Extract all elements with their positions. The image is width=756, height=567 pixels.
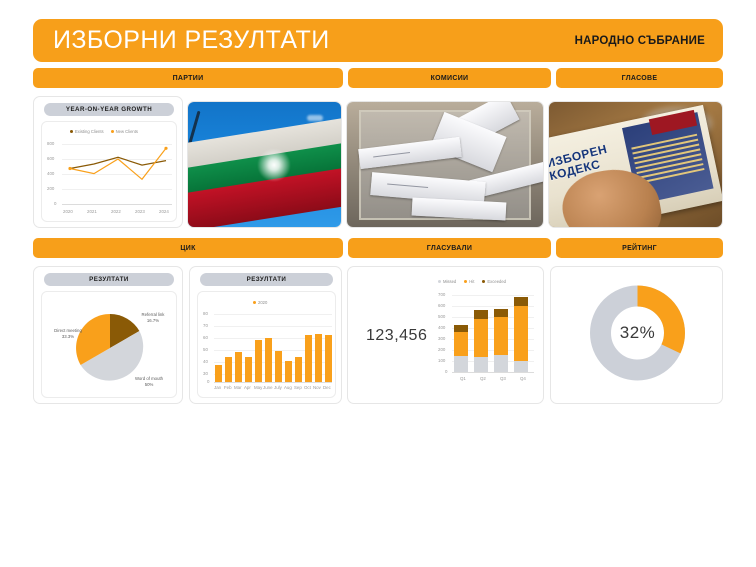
bar-june — [265, 338, 272, 382]
x-tick-label: May — [254, 385, 262, 390]
panel-title-growth: YEAR-ON-YEAR GROWTH — [44, 103, 174, 116]
card-results-bar: РЕЗУЛТАТИ 2020 80 70 60 50 40 30 0 — [189, 266, 342, 404]
y-tick-label: 70 — [203, 323, 208, 328]
stack-q4 — [514, 297, 528, 372]
panel-title-results-bar: РЕЗУЛТАТИ — [200, 273, 333, 286]
card-results-pie: РЕЗУЛТАТИ Referral link 16.7% Word of mo… — [33, 266, 183, 404]
nav-button-cik[interactable]: ЦИК — [33, 238, 343, 258]
x-tick-label: Q3 — [500, 376, 506, 381]
book-scene: ИЗБОРЕН КОДЕКС — [549, 102, 722, 227]
card-rating-donut: 32% — [550, 266, 723, 404]
x-tick-label: June — [263, 385, 273, 390]
x-tick-label: 2023 — [135, 209, 145, 214]
stack-q1 — [454, 325, 468, 372]
y-tick-label: 50 — [203, 347, 208, 352]
page-header: ИЗБОРНИ РЕЗУЛТАТИ НАРОДНО СЪБРАНИЕ — [33, 19, 723, 62]
legend-swatch-exceeded — [482, 280, 485, 283]
y-tick-label: 600 — [438, 303, 445, 308]
stack-q2 — [474, 310, 488, 372]
stack-q3 — [494, 309, 508, 372]
chart-year-on-year-growth: Existing Clients New Clients 800 600 400… — [41, 121, 177, 222]
x-tick-label: Dec — [323, 385, 331, 390]
chart-results-pie: Referral link 16.7% Word of mouth 50% Di… — [41, 291, 177, 398]
nav-button-partii[interactable]: ПАРТИИ — [33, 68, 343, 88]
x-tick-label: Mar — [234, 385, 242, 390]
legend-label-missed: Missed — [443, 279, 456, 284]
x-tick-label: Apr — [244, 385, 251, 390]
legend-label-exceeded: Exceeded — [487, 279, 506, 284]
page-title: ИЗБОРНИ РЕЗУЛТАТИ — [53, 26, 330, 55]
x-tick-label: July — [274, 385, 282, 390]
nav-row-secondary: ЦИК ГЛАСУВАЛИ РЕЙТИНГ — [33, 238, 723, 258]
pie-label-value: 50% — [124, 382, 174, 388]
bar-jan — [215, 365, 222, 382]
segment-missed — [454, 356, 468, 373]
page-subtitle: НАРОДНО СЪБРАНИЕ — [575, 35, 705, 47]
axis-line-x — [452, 372, 534, 373]
bar-dec — [325, 335, 332, 382]
bar-feb — [225, 357, 232, 383]
nav-button-glasuvali[interactable]: ГЛАСУВАЛИ — [348, 238, 551, 258]
image-ballot-box — [346, 101, 544, 228]
nav-button-reyting[interactable]: РЕЙТИНГ — [556, 238, 723, 258]
segment-missed — [494, 355, 508, 372]
legend-swatch-2020 — [253, 301, 256, 304]
segment-exceeded — [454, 325, 468, 333]
legend-item-2020: 2020 — [253, 300, 267, 305]
nav-button-glasove[interactable]: ГЛАСОВЕ — [556, 68, 723, 88]
envelope-line — [387, 183, 428, 188]
pie-label-direct-meeting: Direct meeting 33.3% — [44, 328, 92, 340]
x-tick-label: 2021 — [87, 209, 97, 214]
y-tick-label: 0 — [445, 369, 447, 374]
segment-exceeded — [494, 309, 508, 317]
segment-exceeded — [474, 310, 488, 318]
image-bulgarian-flag — [187, 101, 342, 228]
segment-hit — [514, 306, 528, 361]
axis-line-x — [214, 382, 332, 383]
bar-apr — [245, 357, 252, 383]
chart-results-monthly-bar: 2020 80 70 60 50 40 30 0 — [197, 291, 336, 398]
x-tick-label: Jan — [214, 385, 221, 390]
y-tick-label: 100 — [438, 358, 445, 363]
y-tick-label: 200 — [438, 347, 445, 352]
dashboard-page: ИЗБОРНИ РЕЗУЛТАТИ НАРОДНО СЪБРАНИЕ ПАРТИ… — [0, 0, 756, 567]
segment-hit — [474, 319, 488, 357]
card-year-on-year-growth: YEAR-ON-YEAR GROWTH Existing Clients New… — [33, 96, 183, 228]
envelope-line — [373, 152, 410, 158]
nav-row-primary: ПАРТИИ КОМИСИИ ГЛАСОВЕ — [33, 68, 723, 88]
pie-label-referral-link: Referral link 16.7% — [130, 312, 176, 324]
image-election-code-book: ИЗБОРЕН КОДЕКС — [548, 101, 723, 228]
x-tick-label: 2024 — [159, 209, 169, 214]
kpi-big-number: 123,456 — [366, 327, 427, 345]
segment-exceeded — [514, 297, 528, 306]
pie-label-value: 16.7% — [130, 318, 176, 324]
cloud — [307, 115, 323, 121]
ballot-scene — [347, 102, 543, 227]
y-tick-label: 60 — [203, 335, 208, 340]
stacked-bars — [452, 295, 534, 372]
donut-center-value: 32% — [551, 267, 723, 399]
bar-aug — [285, 361, 292, 382]
y-tick-label: 30 — [203, 371, 208, 376]
flag-scene — [188, 102, 341, 227]
bar-oct — [305, 335, 312, 382]
pie-label-value: 33.3% — [44, 334, 92, 340]
growth-line-svg — [42, 122, 178, 223]
nav-button-komisii[interactable]: КОМИСИИ — [348, 68, 551, 88]
segment-hit — [494, 317, 508, 355]
legend-monthly: 2020 — [253, 300, 267, 305]
legend-quarterly: Missed Hit Exceeded — [438, 279, 506, 284]
x-tick-label: Sep — [294, 385, 302, 390]
bar-nov — [315, 334, 322, 383]
y-tick-label: 500 — [438, 314, 445, 319]
panel-title-results-pie: РЕЗУЛТАТИ — [44, 273, 174, 286]
legend-item-missed: Missed — [438, 279, 456, 284]
legend-label-hit: Hit — [469, 279, 474, 284]
x-tick-label: Q2 — [480, 376, 486, 381]
bar-sep — [295, 357, 302, 383]
bar-july — [275, 351, 282, 382]
x-tick-label: 2020 — [63, 209, 73, 214]
x-tick-label: Q4 — [520, 376, 526, 381]
legend-item-exceeded: Exceeded — [482, 279, 506, 284]
pie-label-word-of-mouth: Word of mouth 50% — [124, 376, 174, 388]
y-tick-label: 80 — [203, 311, 208, 316]
x-tick-label: Feb — [224, 385, 232, 390]
bar-may — [255, 340, 262, 383]
legend-swatch-hit — [464, 280, 467, 283]
y-tick-label: 300 — [438, 336, 445, 341]
y-tick-label: 0 — [207, 379, 209, 384]
y-tick-label: 400 — [438, 325, 445, 330]
x-tick-label: Q1 — [460, 376, 466, 381]
card-quarterly-stacked: 123,456 Missed Hit Exceeded — [347, 266, 544, 404]
segment-missed — [514, 361, 528, 372]
chart-quarterly-stacked: Missed Hit Exceeded 700 600 50 — [436, 277, 536, 395]
legend-item-hit: Hit — [464, 279, 474, 284]
x-tick-label: Aug — [284, 385, 292, 390]
segment-hit — [454, 332, 468, 355]
bar-mar — [235, 352, 242, 382]
sun-flare — [257, 148, 291, 182]
x-tick-label: Nov — [313, 385, 321, 390]
legend-label-2020: 2020 — [258, 300, 267, 305]
segment-missed — [474, 357, 488, 372]
y-tick-label: 40 — [203, 359, 208, 364]
y-tick-label: 700 — [438, 292, 445, 297]
x-tick-label: Oct — [304, 385, 311, 390]
legend-swatch-missed — [438, 280, 441, 283]
monthly-bars — [214, 314, 332, 382]
x-tick-label: 2022 — [111, 209, 121, 214]
